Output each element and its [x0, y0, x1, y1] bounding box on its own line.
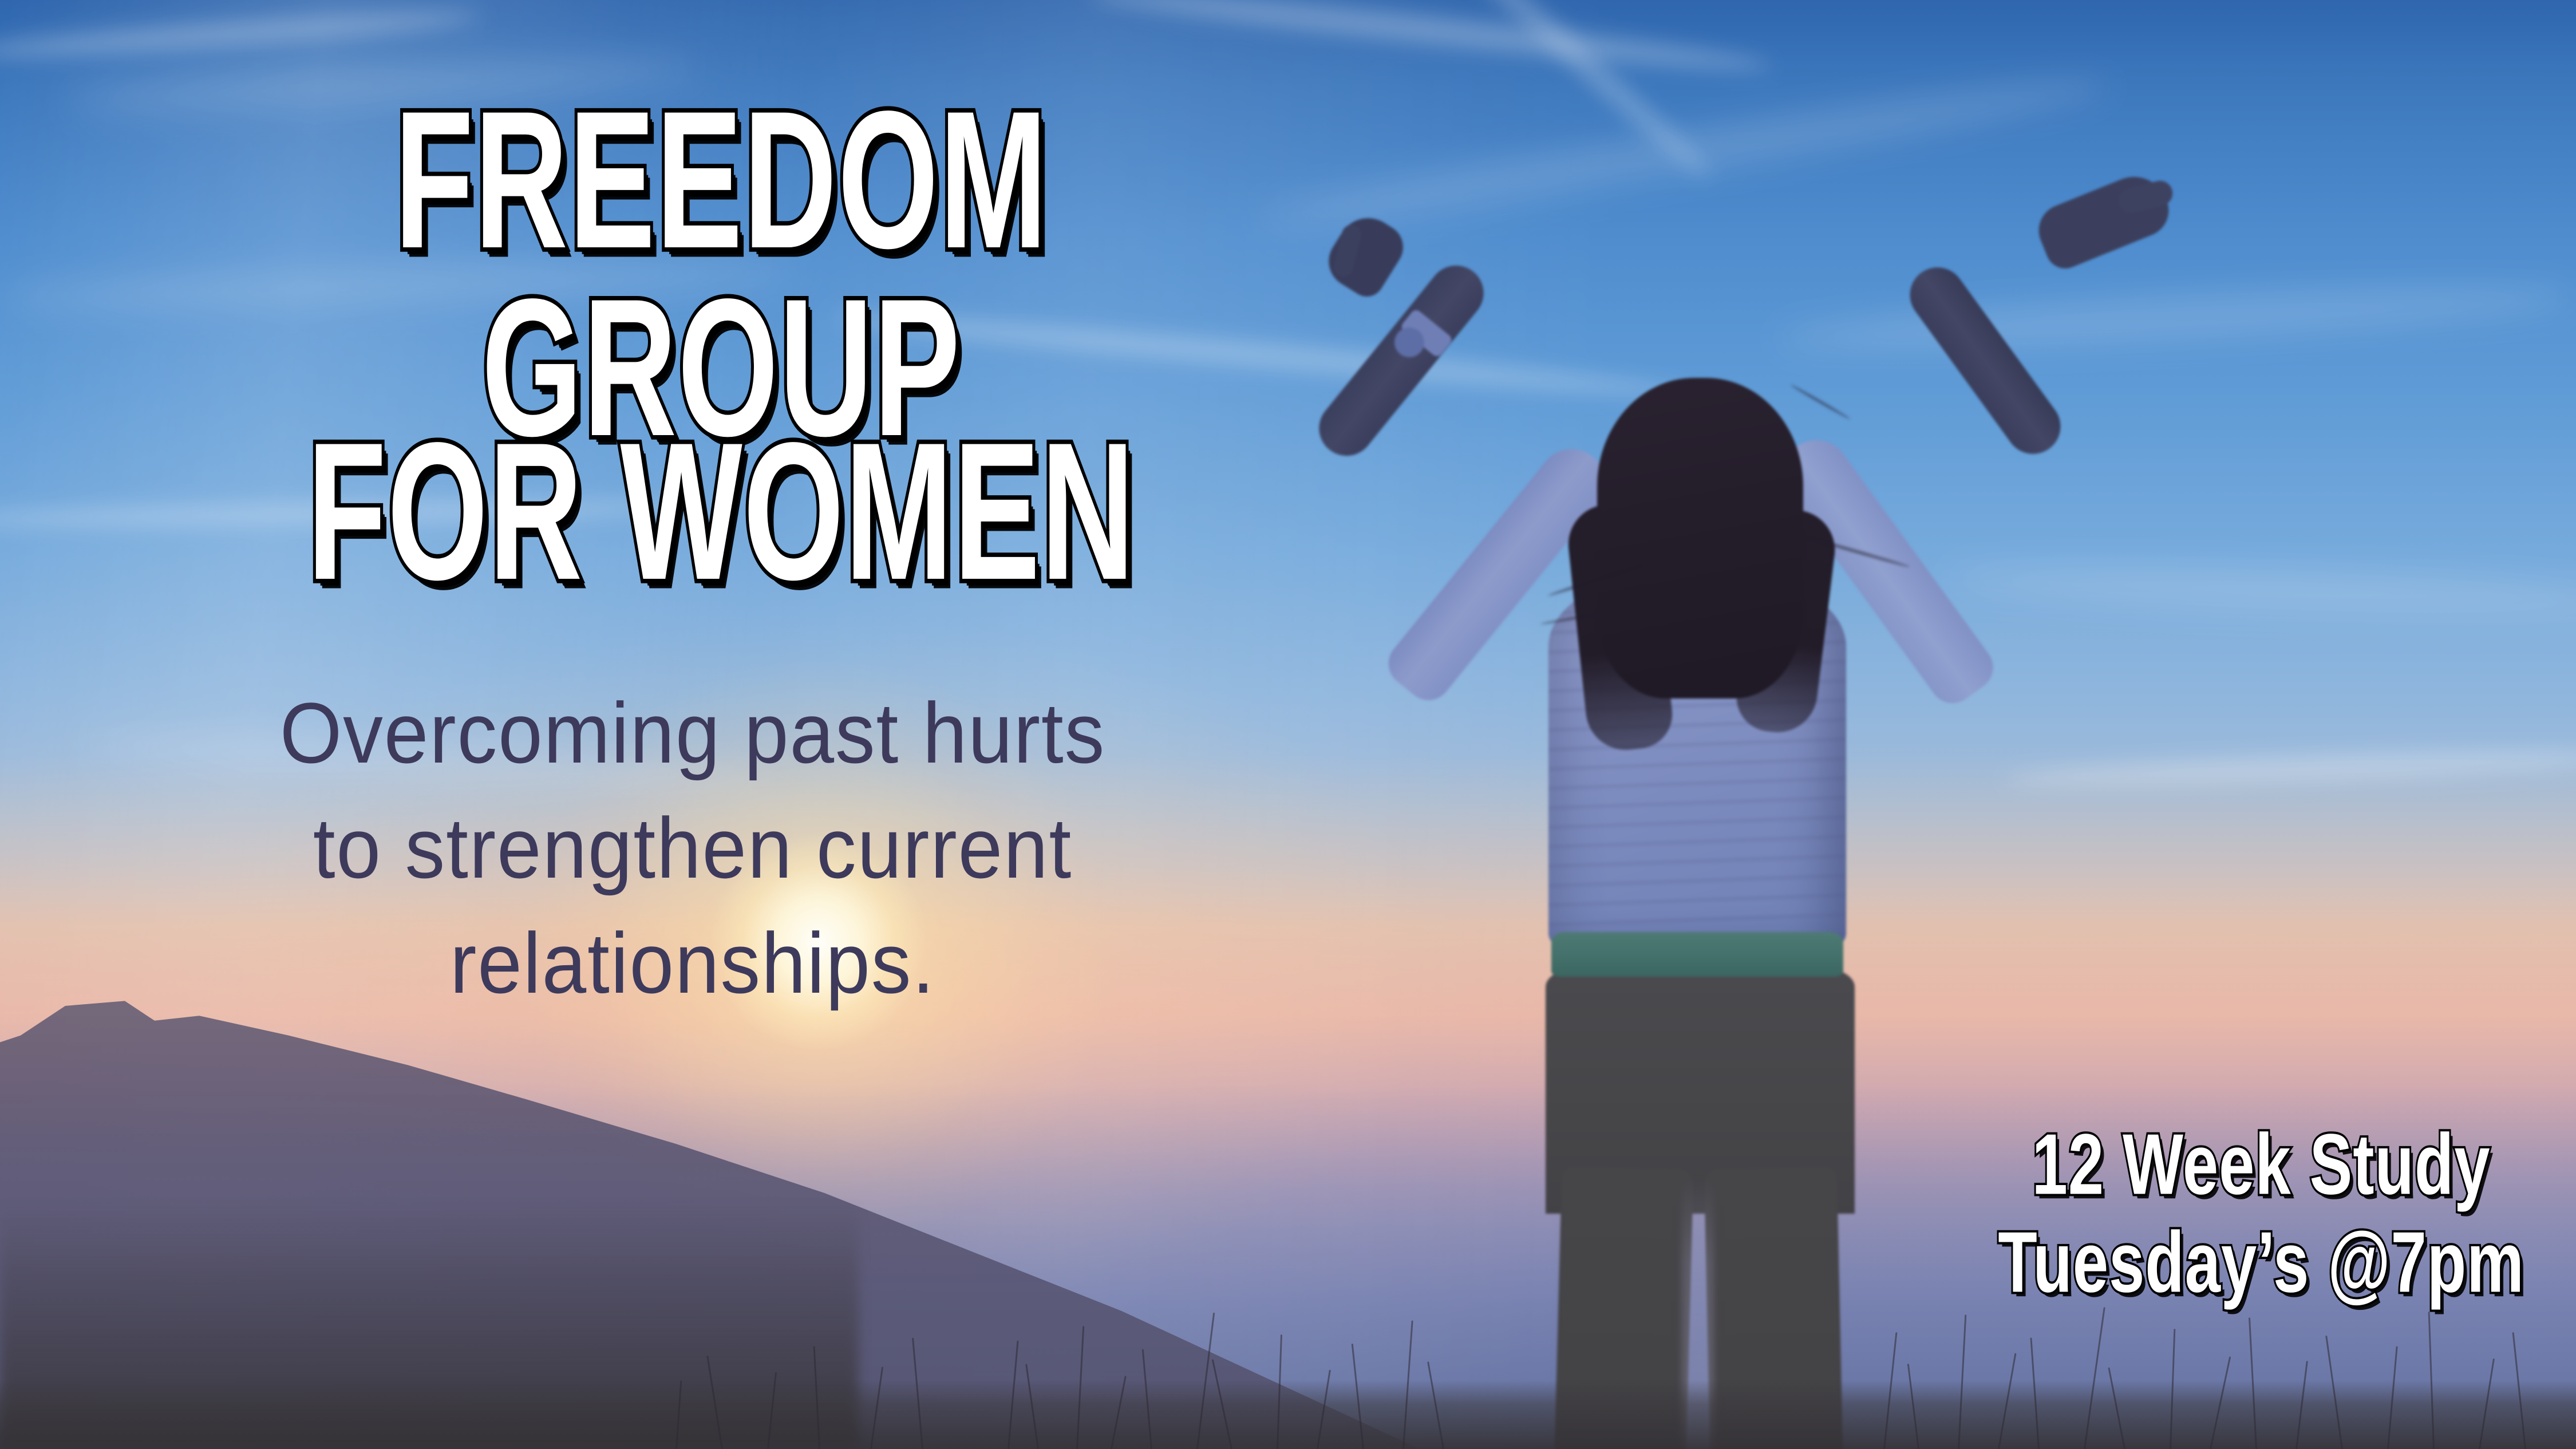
poster-headline: FREEDOM GROUP FOR WOMEN [69, 86, 1374, 577]
subtitle-line-1: Overcoming past hurts [128, 676, 1257, 791]
subtitle-line-2: to strengthen current [128, 791, 1257, 906]
subtitle-line-3: relationships. [128, 906, 1257, 1021]
meeting-time-label: Tuesday’s @7pm [1998, 1206, 2524, 1318]
study-duration-label: 12 Week Study [1998, 1108, 2524, 1221]
promotional-poster: FREEDOM GROUP FOR WOMEN Overcoming past … [0, 0, 2576, 1449]
headline-line-2: FOR WOMEN [212, 417, 1230, 606]
poster-subtitle: Overcoming past hurts to strengthen curr… [86, 676, 1299, 1021]
event-details: 12 Week Study Tuesday’s @7pm [1905, 1115, 2524, 1312]
